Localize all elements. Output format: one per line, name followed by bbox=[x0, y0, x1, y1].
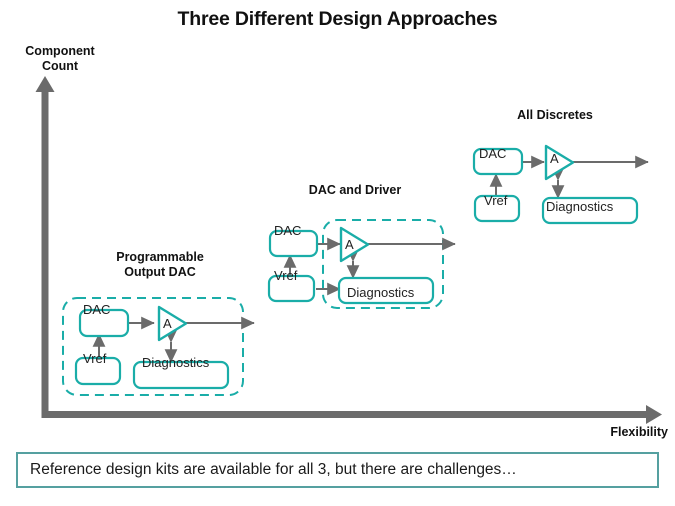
page-title: Three Different Design Approaches bbox=[0, 8, 675, 31]
y-axis-label-line2: Count bbox=[12, 59, 108, 74]
block-dac-2 bbox=[270, 231, 317, 256]
block-dac-3 bbox=[474, 149, 522, 174]
block-vref-2 bbox=[269, 276, 314, 301]
slide-canvas: Three Different Design Approaches Compon… bbox=[0, 0, 675, 506]
block-diagnostics-3 bbox=[543, 198, 637, 223]
group-programmable-output-dac[interactable]: Programmable Output DAC bbox=[60, 250, 260, 400]
block-dac-1 bbox=[80, 310, 128, 336]
block-diagnostics-1 bbox=[134, 362, 228, 388]
x-axis-label: Flexibility bbox=[610, 425, 668, 440]
block-vref-3 bbox=[475, 196, 519, 221]
block-diagnostics-2 bbox=[339, 278, 433, 303]
block-vref-1 bbox=[76, 358, 120, 384]
caption-box: Reference design kits are available for … bbox=[16, 452, 659, 488]
y-axis-label-line1: Component bbox=[12, 44, 108, 59]
y-axis-label: Component Count bbox=[12, 44, 108, 74]
block-amplifier-1 bbox=[159, 307, 186, 340]
x-axis bbox=[42, 405, 663, 424]
group-all-discretes[interactable]: All Discretes bbox=[470, 108, 665, 233]
group-1-diagram bbox=[60, 250, 260, 400]
y-axis bbox=[36, 76, 55, 418]
group-3-diagram bbox=[470, 108, 665, 233]
block-amplifier-2 bbox=[341, 228, 368, 261]
caption-text: Reference design kits are available for … bbox=[30, 461, 517, 479]
block-amplifier-3 bbox=[546, 146, 573, 179]
group-dac-and-driver[interactable]: DAC and Driver bbox=[265, 183, 460, 323]
group-2-diagram bbox=[265, 183, 460, 323]
